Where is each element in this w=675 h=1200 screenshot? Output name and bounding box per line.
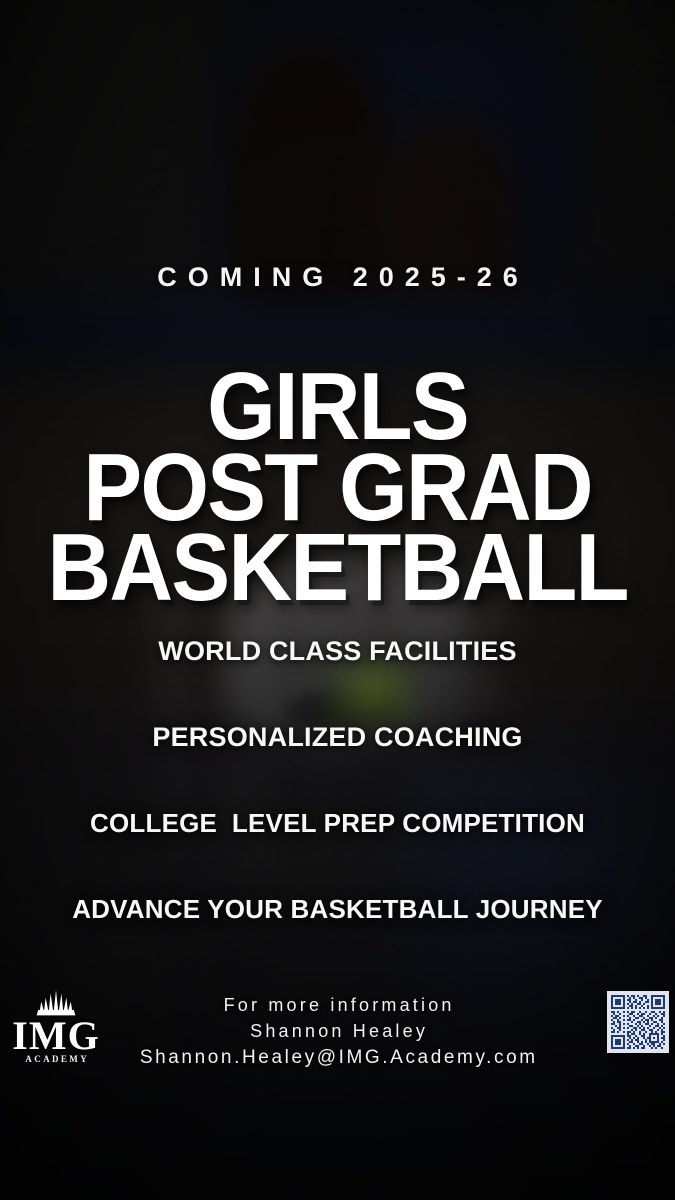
contact-name: Shannon Healey — [0, 1018, 675, 1044]
feature-world-class-facilities: WORLD CLASS FACILITIES — [0, 636, 675, 667]
poster-content: COMING 2025-26 GIRLS POST GRAD BASKETBAL… — [0, 0, 675, 1200]
poster-footer: IMG ACADEMY For more information Shannon… — [0, 986, 675, 1086]
poster-flyer: COMING 2025-26 GIRLS POST GRAD BASKETBAL… — [0, 0, 675, 1200]
headline-line-basketball: BASKETBALL — [27, 529, 648, 608]
qr-code-icon[interactable] — [607, 991, 669, 1053]
headline-block: GIRLS POST GRAD BASKETBALL — [0, 368, 675, 608]
qr-code-modules — [609, 993, 667, 1051]
feature-personalized-coaching: PERSONALIZED COACHING — [0, 722, 675, 753]
contact-email[interactable]: Shannon.Healey@IMG.Academy.com — [0, 1044, 675, 1072]
contact-block: For more information Shannon Healey Shan… — [0, 992, 675, 1072]
feature-list: WORLD CLASS FACILITIES PERSONALIZED COAC… — [0, 636, 675, 925]
eyebrow-coming-season: COMING 2025-26 — [0, 262, 675, 293]
feature-college-level-prep-competition: COLLEGE LEVEL PREP COMPETITION — [0, 808, 675, 839]
contact-line-for-more-information: For more information — [0, 992, 675, 1018]
feature-advance-your-basketball-journey: ADVANCE YOUR BASKETBALL JOURNEY — [0, 894, 675, 925]
